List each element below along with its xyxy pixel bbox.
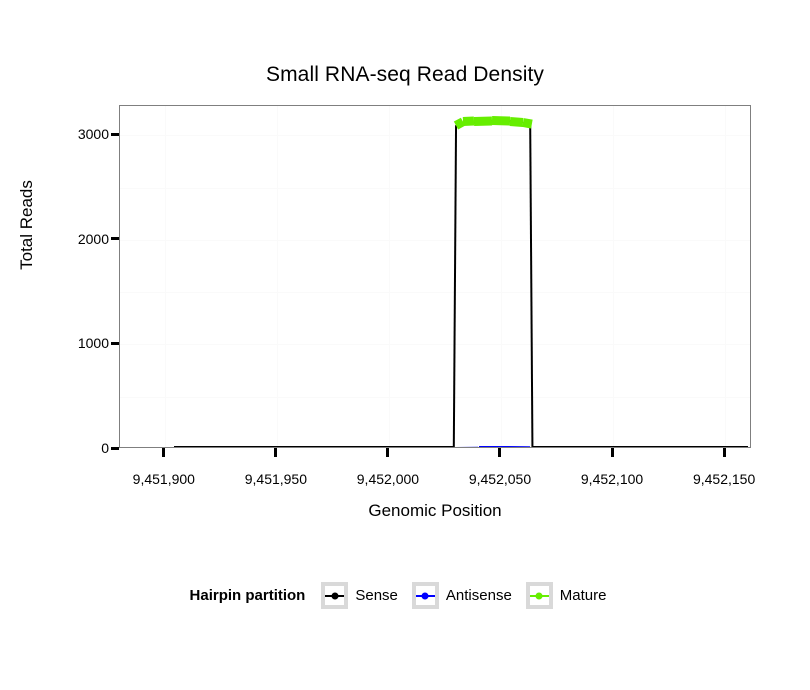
chart-root: Small RNA-seq Read Density 0100020003000… (0, 0, 810, 690)
series-mature (120, 106, 750, 447)
x-axis-tick-label: 9,452,000 (357, 471, 419, 487)
legend-key-icon (321, 582, 348, 609)
legend-title: Hairpin partition (190, 587, 306, 604)
x-axis-tick (611, 448, 614, 457)
x-axis-tick-label: 9,451,950 (245, 471, 307, 487)
data-line-segment (523, 118, 534, 128)
y-axis-tick-label: 2000 (78, 231, 109, 247)
legend-item-label: Mature (560, 587, 607, 604)
data-line-segment (463, 117, 475, 127)
x-axis-tick-label: 9,451,900 (133, 471, 195, 487)
x-axis-tick (162, 448, 165, 457)
x-axis-ticks (119, 448, 751, 458)
y-axis-tick-label: 1000 (78, 335, 109, 351)
y-axis-title: Total Reads (17, 145, 37, 305)
y-axis-tick (111, 342, 119, 345)
legend: Hairpin partition SenseAntisenseMature (0, 582, 810, 609)
x-axis-title: Genomic Position (119, 501, 751, 521)
x-axis-tick (386, 448, 389, 457)
legend-item-label: Sense (355, 587, 398, 604)
y-axis-tick (111, 447, 119, 450)
legend-item-antisense[interactable]: Antisense (412, 582, 512, 609)
x-axis-tick (723, 448, 726, 457)
y-axis-tick-label: 0 (101, 440, 109, 456)
data-line-segment (474, 116, 492, 126)
x-axis-tick-labels: 9,451,9009,451,9509,452,0009,452,0509,45… (119, 471, 751, 491)
legend-item-sense[interactable]: Sense (321, 582, 398, 609)
legend-key-point (536, 592, 543, 599)
x-axis-tick (274, 448, 277, 457)
legend-items: SenseAntisenseMature (321, 582, 620, 609)
data-line-segment (492, 116, 510, 126)
x-axis-tick-label: 9,452,150 (693, 471, 755, 487)
legend-key-icon (526, 582, 553, 609)
y-axis-tick (111, 133, 119, 136)
x-axis-tick (498, 448, 501, 457)
legend-item-mature[interactable]: Mature (526, 582, 607, 609)
y-axis-ticks (119, 105, 120, 448)
legend-item-label: Antisense (446, 587, 512, 604)
y-axis-tick (111, 237, 119, 240)
x-axis-tick-label: 9,452,100 (581, 471, 643, 487)
y-axis-tick-label: 3000 (78, 126, 109, 142)
x-axis-tick-label: 9,452,050 (469, 471, 531, 487)
legend-key-point (422, 592, 429, 599)
page-title: Small RNA-seq Read Density (0, 63, 810, 87)
plot-panel (119, 105, 751, 448)
y-axis-tick-labels: 0100020003000 (60, 105, 109, 448)
legend-key-icon (412, 582, 439, 609)
legend-key-point (331, 592, 338, 599)
